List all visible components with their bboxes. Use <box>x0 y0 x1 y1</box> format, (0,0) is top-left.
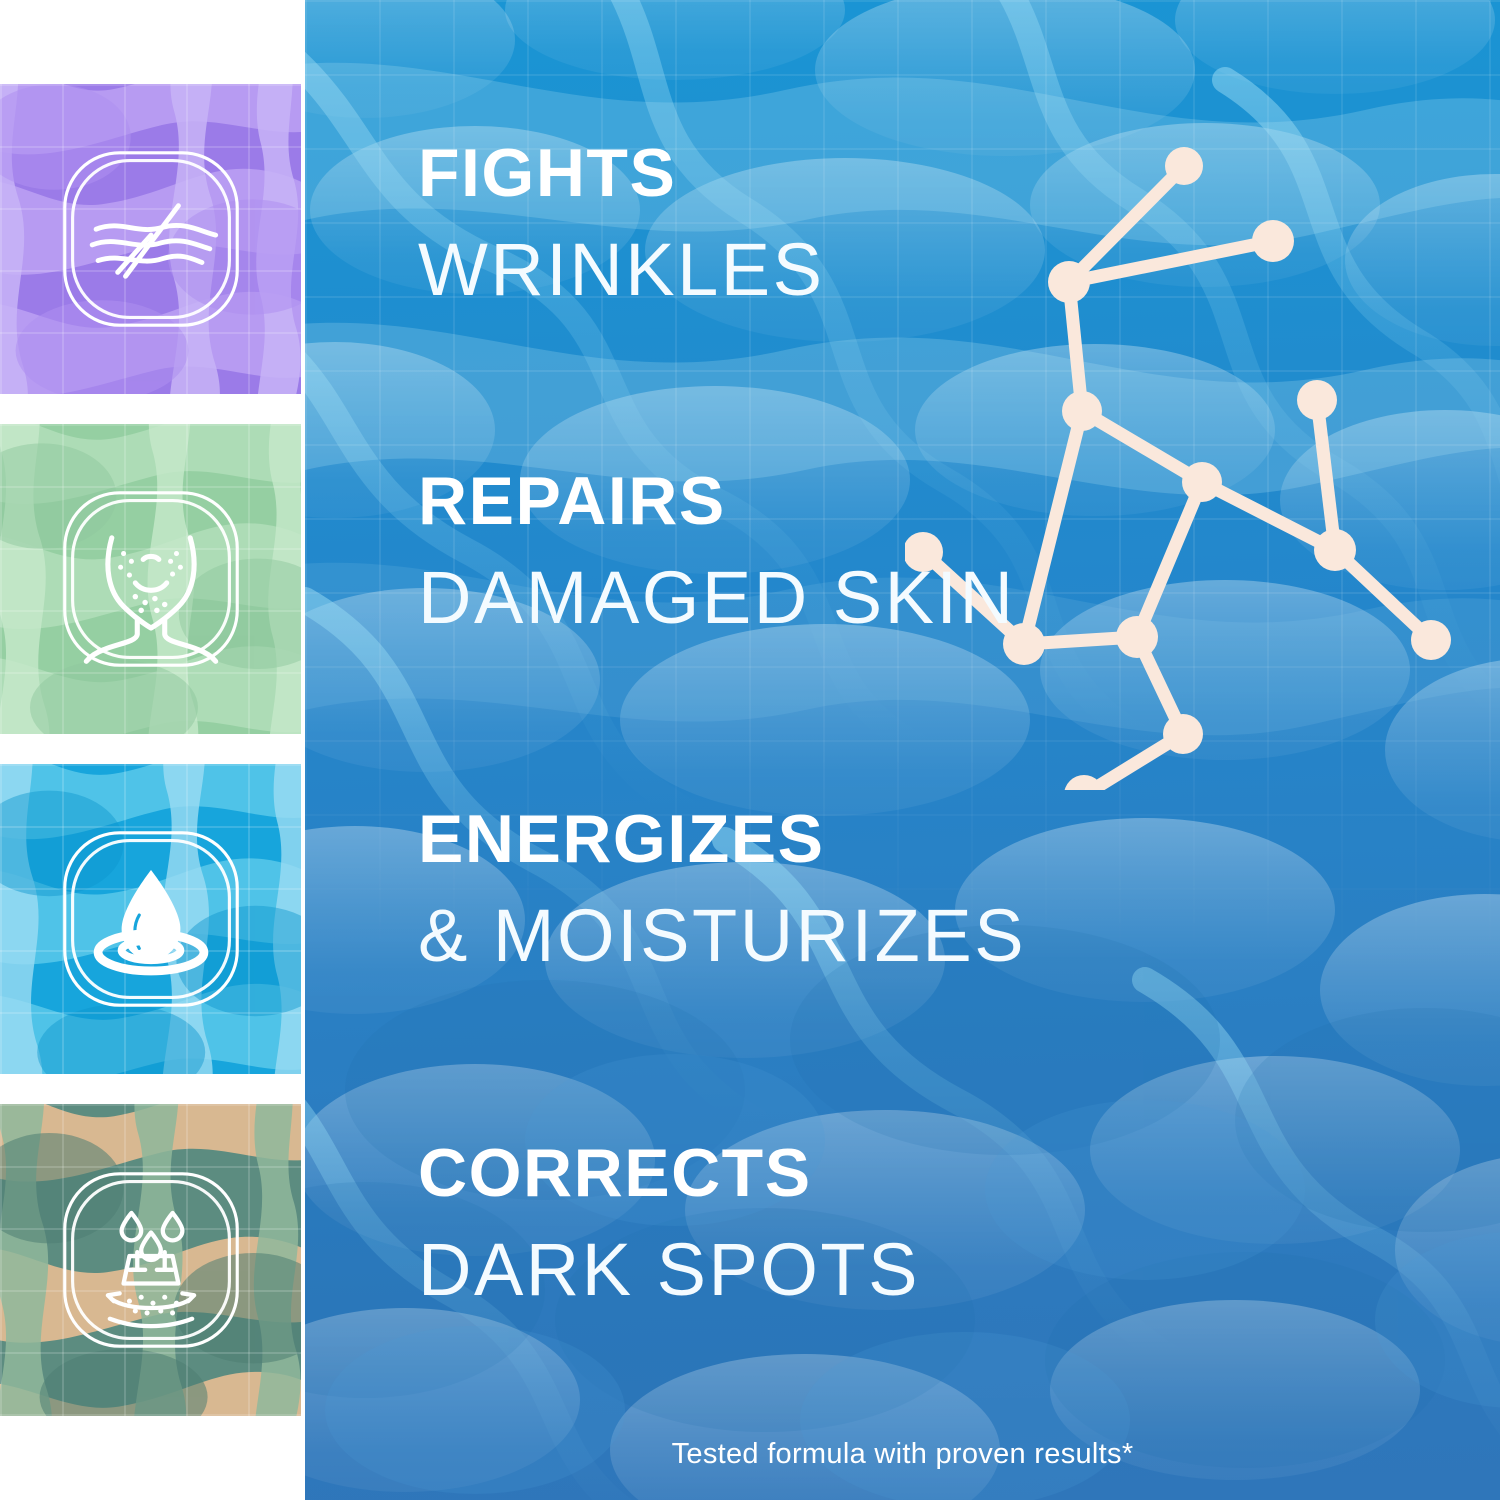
thumbnail-wrinkles[interactable] <box>0 84 301 394</box>
thumbnail-damaged-skin[interactable] <box>0 424 301 734</box>
feature-list: FIGHTS WRINKLES REPAIRS DAMAGED SKIN ENE… <box>305 0 1500 1500</box>
feature-item-wrinkles: FIGHTS WRINKLES <box>418 139 825 307</box>
feature-subline: & MOISTURIZES <box>418 899 1026 973</box>
feature-subline: DAMAGED SKIN <box>418 561 1015 635</box>
feature-headline: FIGHTS <box>418 139 825 207</box>
feature-headline: REPAIRS <box>418 467 1015 535</box>
feature-subline: DARK SPOTS <box>418 1233 920 1307</box>
feature-item-damaged-skin: REPAIRS DAMAGED SKIN <box>418 467 1015 635</box>
feature-item-energizes: ENERGIZES & MOISTURIZES <box>418 805 1026 973</box>
water-droplet-ripple-icon <box>53 821 249 1017</box>
infographic-canvas: FIGHTS WRINKLES REPAIRS DAMAGED SKIN ENE… <box>0 0 1500 1500</box>
feature-item-dark-spots: CORRECTS DARK SPOTS <box>418 1139 920 1307</box>
feature-headline: ENERGIZES <box>418 805 1026 873</box>
main-panel: FIGHTS WRINKLES REPAIRS DAMAGED SKIN ENE… <box>305 0 1500 1500</box>
feature-headline: CORRECTS <box>418 1139 920 1207</box>
skin-absorption-icon <box>53 1162 249 1358</box>
blemished-face-icon <box>53 481 249 677</box>
thumbnail-strip <box>0 0 301 1500</box>
thumbnail-dark-spots[interactable] <box>0 1104 301 1416</box>
feature-subline: WRINKLES <box>418 233 825 307</box>
wrinkled-skin-icon <box>53 141 249 337</box>
thumbnail-moisture[interactable] <box>0 764 301 1074</box>
footnote-text: Tested formula with proven results* <box>305 1438 1500 1471</box>
